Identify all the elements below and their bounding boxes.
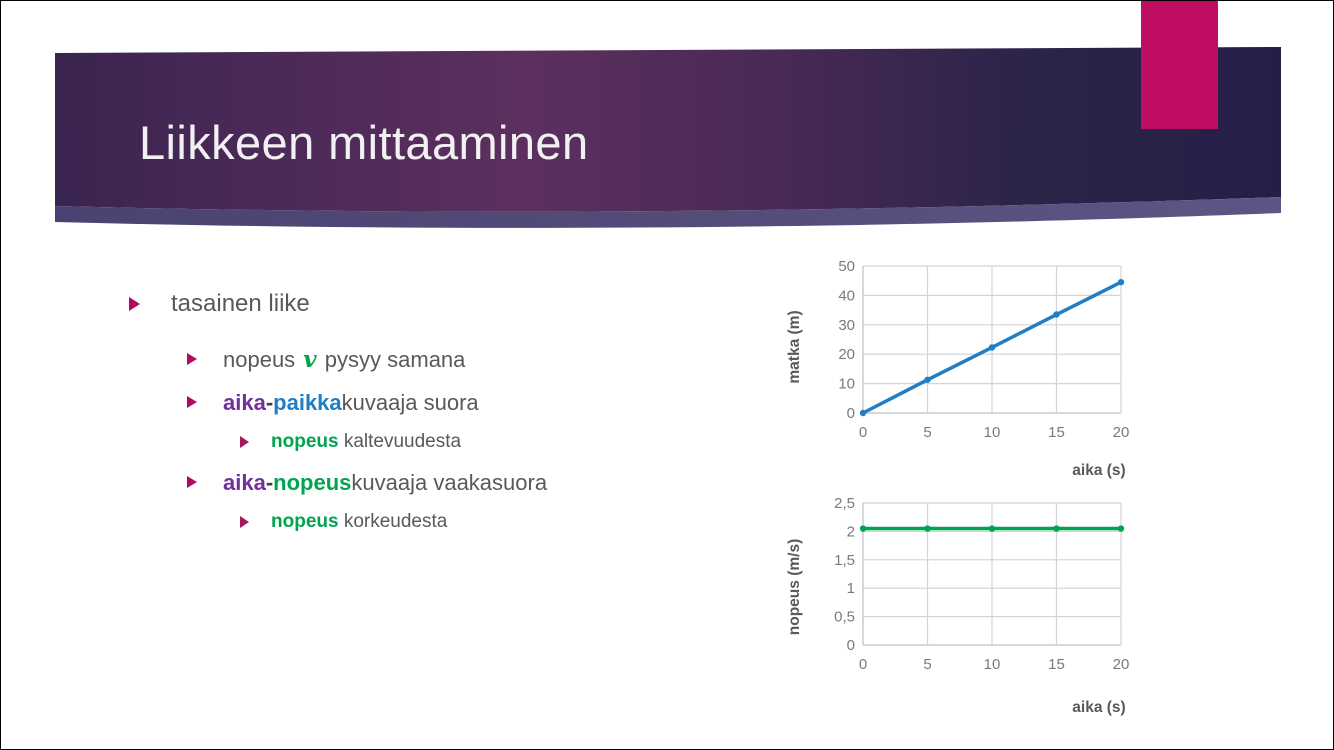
chart-y-tick: 20	[838, 346, 855, 363]
chart-y-tick: 1	[847, 580, 855, 597]
list-item-label: tasainen liike	[171, 287, 310, 321]
chart-y-tick-labels: 00,511,522,5	[834, 495, 855, 654]
list-item: tasainen liike	[129, 287, 769, 321]
chart-y-tick: 50	[838, 258, 855, 275]
text-span: nopeus	[273, 470, 351, 495]
list-item: aika-nopeuskuvaaja vaakasuora	[187, 466, 769, 499]
chart-x-tick-labels: 05101520	[859, 424, 1130, 441]
bullet-triangle-icon	[240, 516, 249, 528]
slide: Liikkeen mittaaminen tasainen liike nope…	[0, 0, 1334, 750]
text-span: paikka	[273, 390, 342, 415]
chart-y-tick: 2,5	[834, 495, 855, 512]
chart-x-tick: 0	[859, 656, 867, 673]
chart-y-tick: 40	[838, 287, 855, 304]
bullet-triangle-icon	[187, 396, 197, 408]
chart-gridlines	[863, 266, 1121, 413]
text-span: pysyy samana	[319, 347, 466, 372]
chart-x-axis-label: aika (s)	[1072, 462, 1125, 479]
chart-y-axis-label: nopeus (m/s)	[786, 539, 803, 635]
chart-point	[1118, 279, 1124, 285]
chart-x-tick: 5	[923, 656, 931, 673]
chart-x-tick: 15	[1048, 424, 1065, 441]
list-item: nopeus kaltevuudesta	[240, 427, 769, 457]
velocity-symbol: v	[301, 346, 318, 373]
chart-svg: 01020304050 05101520 matka (m) aika (s)	[781, 247, 1181, 487]
text-span: kuvaaja suora	[342, 390, 479, 415]
chart-svg: 00,511,522,5 05101520 nopeus (m/s) aika …	[781, 487, 1181, 722]
chart-point	[924, 525, 930, 531]
text-span: nopeus	[271, 431, 339, 452]
chart-y-tick: 0	[847, 405, 855, 422]
bullet-triangle-icon	[240, 436, 249, 448]
accent-tab	[1141, 1, 1218, 129]
chart-y-tick: 0	[847, 637, 855, 654]
list-item-label: nopeus kaltevuudesta	[271, 427, 461, 457]
bullet-triangle-icon	[187, 353, 197, 365]
text-span: tasainen liike	[171, 290, 310, 317]
list-item-label: aika-nopeuskuvaaja vaakasuora	[223, 466, 547, 499]
list-item-label: nopeus v pysyy samana	[223, 343, 465, 376]
chart-speed-time: 00,511,522,5 05101520 nopeus (m/s) aika …	[781, 487, 1181, 722]
chart-point	[1053, 311, 1059, 317]
bullet-triangle-icon	[129, 297, 140, 311]
chart-x-tick: 10	[984, 656, 1001, 673]
list-item: nopeus korkeudesta	[240, 507, 769, 537]
text-span: aika	[223, 470, 266, 495]
chart-y-tick: 10	[838, 376, 855, 393]
chart-x-tick: 15	[1048, 656, 1065, 673]
chart-y-tick: 1,5	[834, 552, 855, 569]
chart-gridlines	[863, 503, 1121, 645]
chart-distance-time: 01020304050 05101520 matka (m) aika (s)	[781, 247, 1181, 487]
text-span: korkeudesta	[339, 511, 448, 532]
text-span: nopeus	[271, 511, 339, 532]
chart-point	[989, 525, 995, 531]
text-span: aika	[223, 390, 266, 415]
chart-y-tick: 30	[838, 317, 855, 334]
chart-point	[989, 344, 995, 350]
chart-point	[860, 525, 866, 531]
chart-y-tick: 0,5	[834, 609, 855, 626]
bullet-list: tasainen liike nopeus v pysyy samana aik…	[129, 287, 769, 539]
chart-x-tick: 10	[984, 424, 1001, 441]
list-item-label: aika-paikkakuvaaja suora	[223, 386, 479, 419]
text-span: kaltevuudesta	[339, 431, 462, 452]
bullet-triangle-icon	[187, 476, 197, 488]
chart-y-tick: 2	[847, 523, 855, 540]
chart-x-axis-label: aika (s)	[1072, 699, 1125, 716]
chart-x-tick: 5	[923, 424, 931, 441]
list-item: nopeus v pysyy samana	[187, 343, 769, 376]
page-title: Liikkeen mittaaminen	[139, 117, 589, 169]
text-span: nopeus	[223, 347, 301, 372]
chart-x-tick: 0	[859, 424, 867, 441]
chart-y-axis-label: matka (m)	[786, 310, 803, 383]
chart-point	[924, 377, 930, 383]
text-span: kuvaaja vaakasuora	[351, 470, 547, 495]
chart-x-tick: 20	[1113, 656, 1130, 673]
chart-point	[1053, 525, 1059, 531]
list-item-label: nopeus korkeudesta	[271, 507, 447, 537]
chart-x-tick: 20	[1113, 424, 1130, 441]
chart-y-tick-labels: 01020304050	[838, 258, 855, 422]
chart-point	[860, 410, 866, 416]
list-item: aika-paikkakuvaaja suora	[187, 386, 769, 419]
chart-x-tick-labels: 05101520	[859, 656, 1130, 673]
chart-point	[1118, 525, 1124, 531]
